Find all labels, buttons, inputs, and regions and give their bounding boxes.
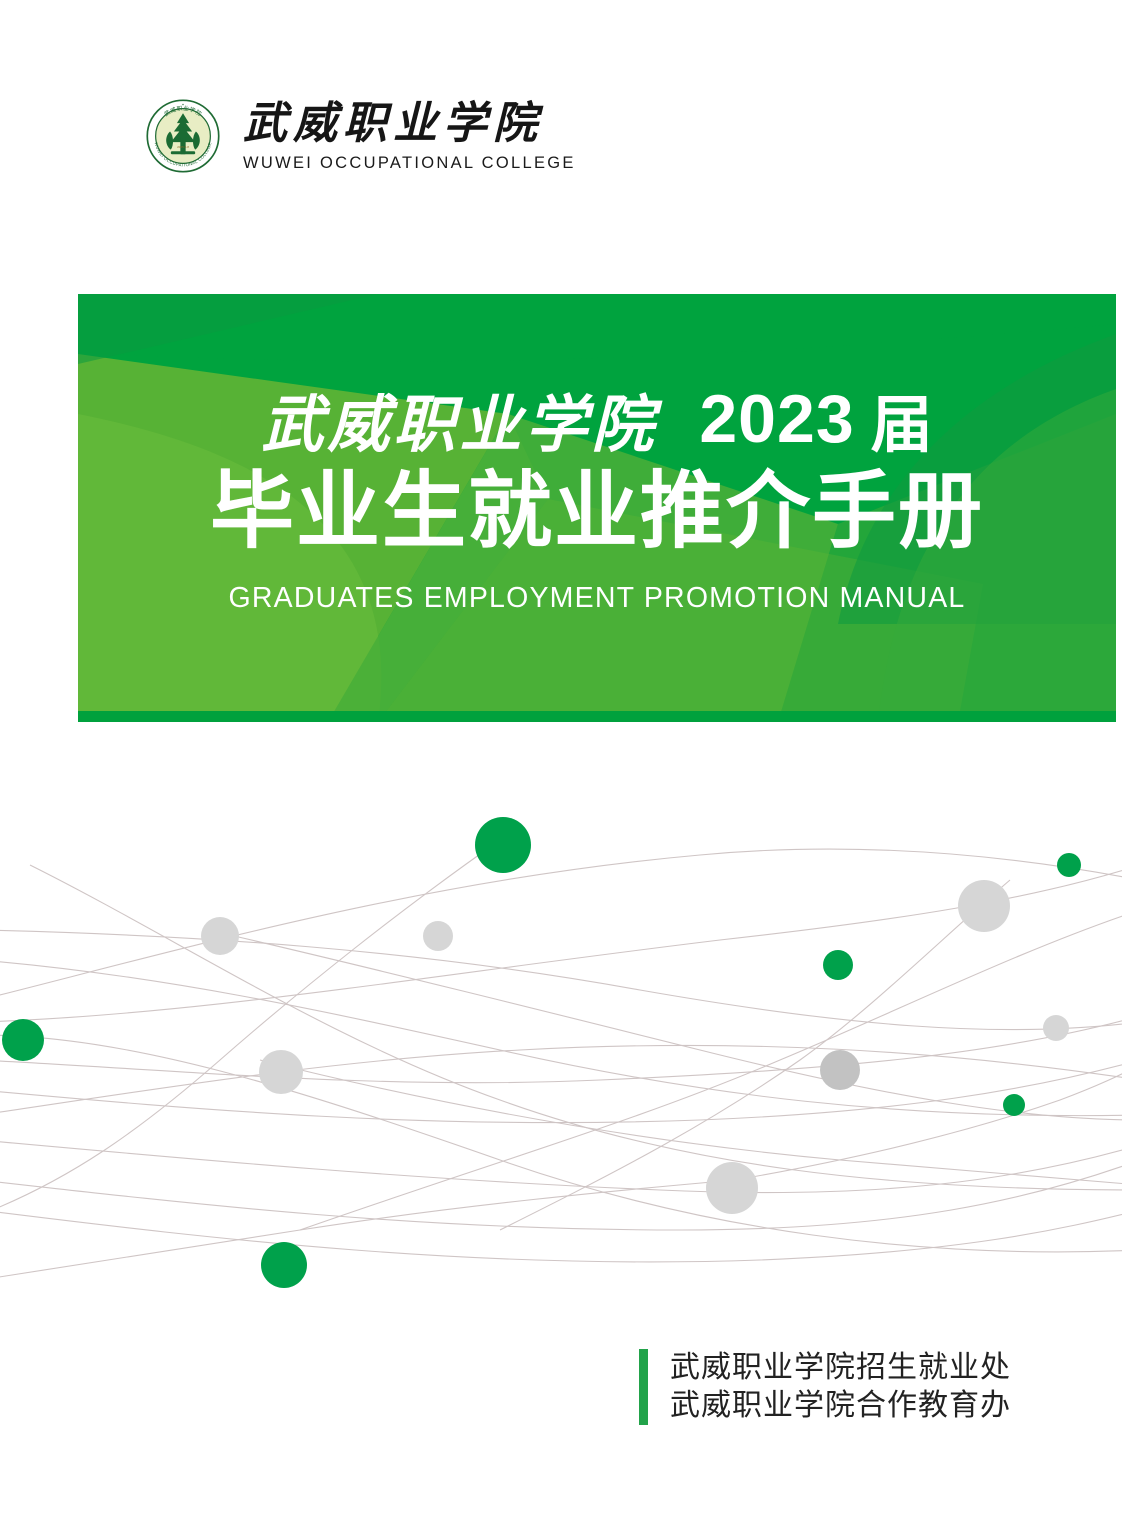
banner-title-year: 2023 <box>699 381 854 457</box>
node-green-left <box>2 1019 44 1061</box>
node-green-bottom <box>261 1242 307 1288</box>
network-nodes-illustration <box>0 760 1122 1320</box>
node-gray-mid-right <box>1043 1015 1069 1041</box>
network-nodes <box>2 817 1081 1288</box>
node-gray-upper-right <box>958 880 1010 932</box>
banner-content: 武威职业学院2023届 毕业生就业推介手册 GRADUATES EMPLOYME… <box>78 294 1116 722</box>
title-banner: 武威职业学院2023届 毕业生就业推介手册 GRADUATES EMPLOYME… <box>78 294 1116 722</box>
logo-school-name-en: WUWEI OCCUPATIONAL COLLEGE <box>243 153 576 173</box>
logo-wordmark: 武威职业学院 WUWEI OCCUPATIONAL COLLEGE <box>243 99 576 173</box>
banner-bottom-strip <box>78 711 1116 722</box>
node-gray-upper-mid <box>423 921 453 951</box>
node-green-large <box>475 817 531 873</box>
banner-subtitle-en: GRADUATES EMPLOYMENT PROMOTION MANUAL <box>78 582 1116 615</box>
footer-accent-bar <box>639 1349 648 1425</box>
network-edges <box>0 840 1122 1280</box>
footer-line-1: 武威职业学院招生就业处 <box>670 1349 1011 1387</box>
node-gray-lower <box>706 1162 758 1214</box>
footer-text-lines: 武威职业学院招生就业处 武威职业学院合作教育办 <box>670 1349 1011 1425</box>
svg-text:2005.6.8: 2005.6.8 <box>177 145 189 149</box>
footer-issuer-block: 武威职业学院招生就业处 武威职业学院合作教育办 <box>639 1349 1011 1425</box>
college-emblem-icon: 武威职业学院 WUWEI OCCUPATIONAL COLLEGE 2005.6… <box>145 98 221 174</box>
footer-line-2: 武威职业学院合作教育办 <box>670 1387 1011 1425</box>
logo-school-name-cn: 武威职业学院 <box>243 99 576 149</box>
node-gray-upper-left <box>201 917 239 955</box>
banner-title-jie: 届 <box>871 391 933 460</box>
network-svg <box>0 760 1122 1320</box>
college-logo-block: 武威职业学院 WUWEI OCCUPATIONAL COLLEGE 2005.6… <box>145 98 576 174</box>
node-green-right <box>1003 1094 1025 1116</box>
node-green-mid <box>823 950 853 980</box>
banner-title-school: 武威职业学院 <box>261 392 657 460</box>
node-gray-mid-left <box>259 1050 303 1094</box>
banner-title-line-1: 武威职业学院2023届 <box>78 374 1116 464</box>
node-green-topright <box>1057 853 1081 877</box>
banner-title-line-2: 毕业生就业推介手册 <box>78 466 1116 556</box>
node-gray-center-right <box>820 1050 860 1090</box>
